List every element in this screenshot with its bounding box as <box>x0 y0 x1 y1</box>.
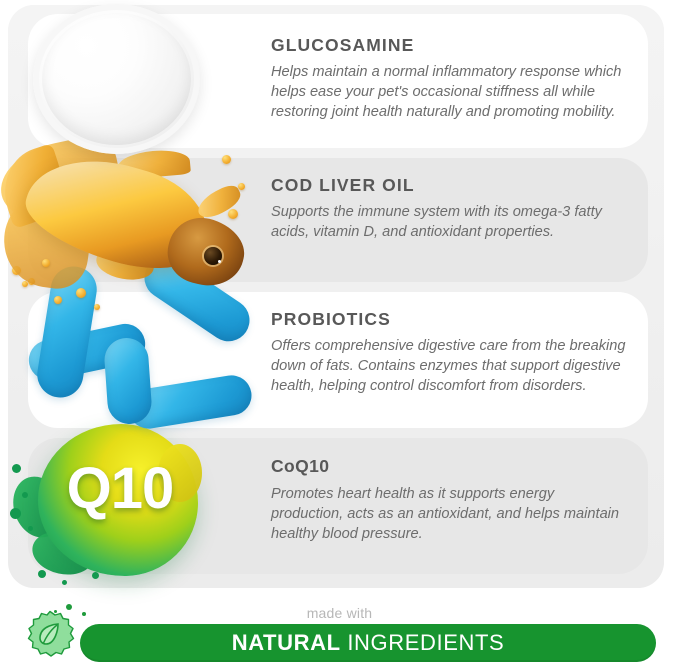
infographic-canvas: GLUCOSAMINE Helps maintain a normal infl… <box>0 0 679 669</box>
leaf-badge-icon <box>22 608 78 664</box>
banner-rest-text: INGREDIENTS <box>341 630 505 655</box>
ingredient-description-coq10: Promotes heart health as it supports ene… <box>271 484 629 544</box>
leaf-accent-dot <box>66 604 72 610</box>
ingredient-description-cod-liver-oil: Supports the immune system with its omeg… <box>271 202 629 242</box>
ingredient-card-coq10: CoQ10 Promotes heart health as it suppor… <box>28 438 648 574</box>
ingredient-card-probiotics: PROBIOTICS Offers comprehensive digestiv… <box>28 292 648 428</box>
natural-ingredients-banner: NATURAL INGREDIENTS <box>80 624 656 662</box>
ingredient-card-cod-liver-oil: COD LIVER OIL Supports the immune system… <box>28 158 648 282</box>
ingredient-title-probiotics: PROBIOTICS <box>271 309 391 330</box>
ingredient-title-glucosamine: GLUCOSAMINE <box>271 35 414 56</box>
ingredient-title-coq10: CoQ10 <box>271 456 329 477</box>
ingredient-description-probiotics: Offers comprehensive digestive care from… <box>271 336 637 396</box>
ingredient-card-glucosamine: GLUCOSAMINE Helps maintain a normal infl… <box>28 14 648 148</box>
banner-strong-text: NATURAL <box>232 630 341 655</box>
leaf-accent-dot <box>54 610 57 613</box>
ingredient-description-glucosamine: Helps maintain a normal inflammatory res… <box>271 62 629 122</box>
ingredient-title-cod-liver-oil: COD LIVER OIL <box>271 175 415 196</box>
banner-text: NATURAL INGREDIENTS <box>232 630 505 656</box>
made-with-label: made with <box>0 605 679 621</box>
leaf-accent-dot <box>82 612 86 616</box>
